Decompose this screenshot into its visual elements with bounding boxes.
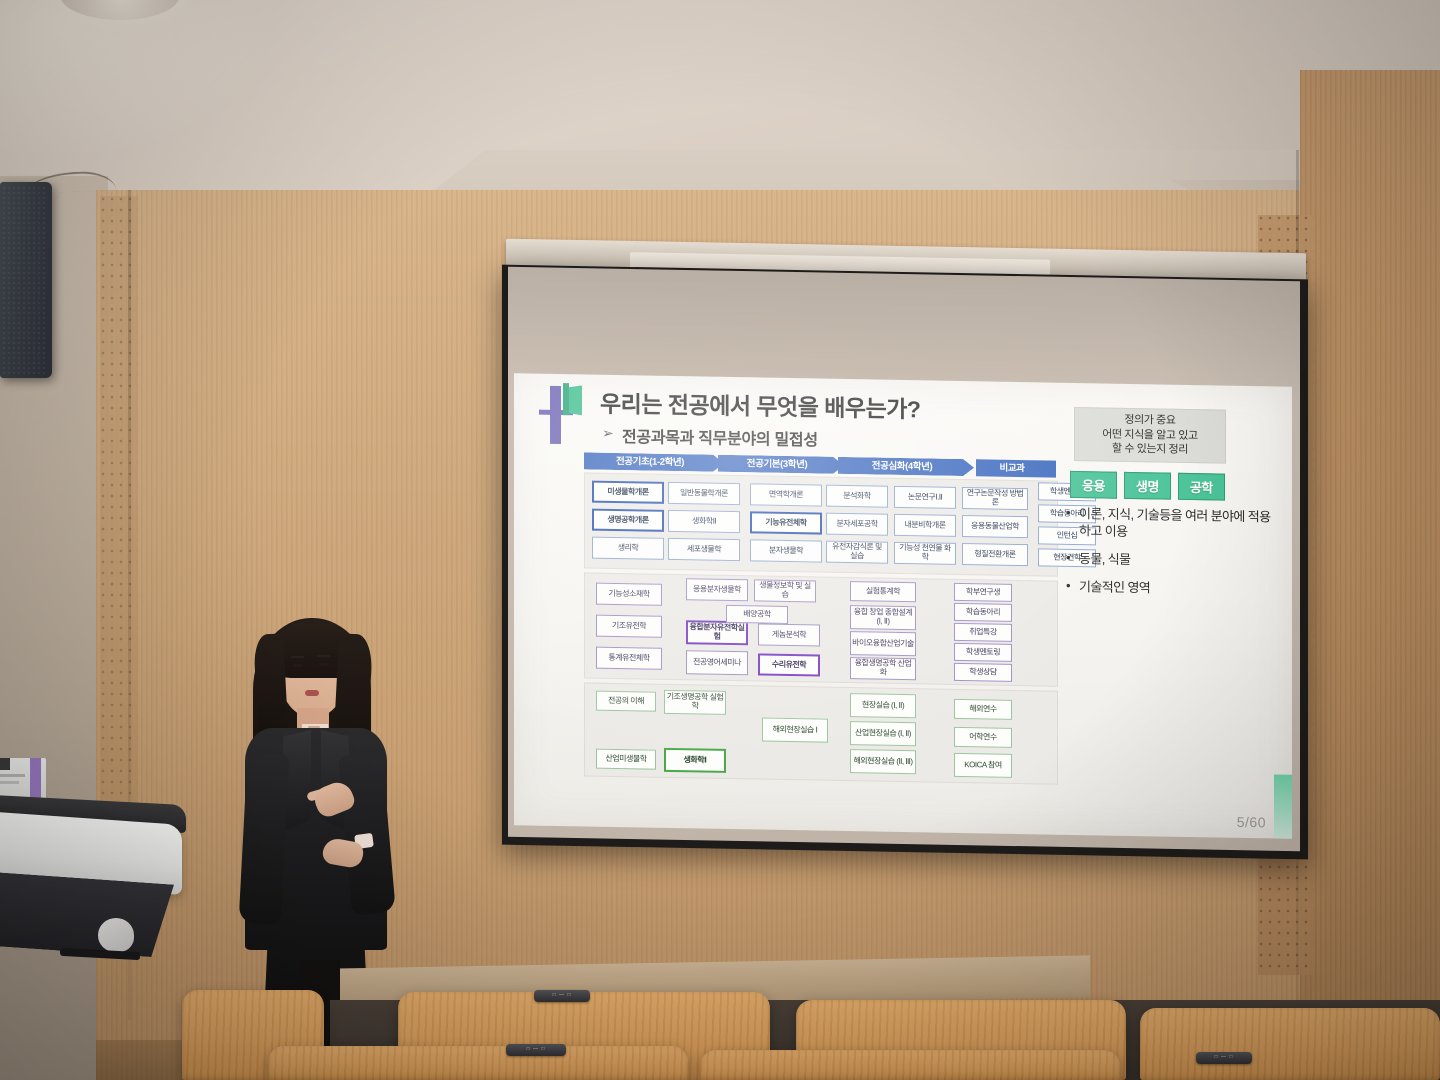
course-box: 생화학Ⅰ bbox=[664, 748, 726, 773]
course-box: 기능성 천연물 화학 bbox=[894, 542, 956, 565]
course-box: 학부연구생 bbox=[954, 583, 1012, 602]
university-logo-icon bbox=[536, 382, 584, 445]
course-box: 기능성소재학 bbox=[596, 583, 662, 606]
lectern-knob bbox=[98, 918, 134, 952]
course-box: 기조유전학 bbox=[596, 615, 662, 638]
course-box: 해외현장실습 Ⅰ bbox=[762, 718, 828, 743]
course-box: 유전자감식론 및 실습 bbox=[826, 541, 888, 564]
course-box: 해외현장실습 (Ⅱ, Ⅲ) bbox=[850, 749, 916, 774]
acoustic-panel-left bbox=[100, 196, 138, 896]
course-box: 바이오융합산업기술 bbox=[850, 631, 916, 656]
list-item: 동물, 식물 bbox=[1066, 550, 1280, 571]
course-box: 배양공학 bbox=[726, 605, 788, 624]
stage-header-2-label: 전공심화(4학년) bbox=[872, 457, 932, 475]
course-box: 취업특강 bbox=[954, 623, 1012, 642]
chair-tablet-label: □ — □ bbox=[553, 992, 572, 998]
course-box: 융합생명공학 산업화 bbox=[850, 657, 916, 680]
course-box: 산업미생물학 bbox=[596, 749, 656, 770]
course-box: 통계유전체학 bbox=[596, 647, 662, 670]
stage-header-3-label: 비교과 bbox=[999, 460, 1024, 477]
speaker-grill bbox=[2, 186, 46, 374]
course-box: 생화학Ⅱ bbox=[668, 510, 740, 533]
course-box: 수리유전학 bbox=[758, 653, 820, 676]
course-box: 학습동아리 bbox=[954, 603, 1012, 622]
side-bullet-list: 이론, 지식, 기술등을 여러 분야에 적용하고 이용 동물, 식물 기술적인 … bbox=[1066, 505, 1280, 610]
chair-tablet-arm[interactable]: □ — □ bbox=[534, 990, 590, 1002]
course-box: 일반동물학개론 bbox=[668, 482, 740, 505]
course-box: 생명공학개론 bbox=[592, 509, 664, 532]
list-item[interactable] bbox=[1140, 1008, 1440, 1080]
definition-note: 정의가 중요 어떤 지식을 알고 있고 할 수 있는지 정리 bbox=[1074, 407, 1226, 464]
course-box: 내분비학개론 bbox=[894, 514, 956, 537]
course-box: 생물정보학 및 실습 bbox=[754, 579, 816, 602]
wall-speaker bbox=[0, 182, 52, 378]
course-box: 면역학개론 bbox=[750, 483, 822, 506]
course-box: 실험통계학 bbox=[850, 581, 916, 602]
course-box: 세포생물학 bbox=[668, 538, 740, 561]
domain-tag-row: 응용 생명 공학 bbox=[1070, 471, 1225, 501]
stage-header-0: 전공기초(1-2학년) bbox=[584, 452, 724, 471]
course-box: 학생상담 bbox=[954, 663, 1012, 682]
slide-accent-chip bbox=[1274, 774, 1292, 838]
slide-page-number: 5/60 bbox=[1237, 814, 1266, 831]
course-box: 융합 창업 종합설계 (Ⅰ, Ⅱ) bbox=[850, 605, 916, 630]
course-box: 응용동물산업학 bbox=[962, 515, 1028, 538]
course-box: 융합분자유전학실험 bbox=[686, 620, 748, 645]
course-box: 기능유전체학 bbox=[750, 511, 822, 534]
course-box: 학생멘토링 bbox=[954, 643, 1012, 662]
domain-tag-0: 응용 bbox=[1070, 471, 1117, 499]
presentation-slide: 우리는 전공에서 무엇을 배우는가? ➢ 전공과목과 직무분야의 밀접성 전공기… bbox=[514, 373, 1292, 839]
course-box: 연구논문작성 방법론 bbox=[962, 487, 1028, 510]
course-box: 응용분자생물학 bbox=[686, 578, 748, 601]
course-box: 분석화학 bbox=[826, 485, 888, 508]
chair-tablet-label: □ — □ bbox=[1215, 1054, 1234, 1060]
list-item[interactable] bbox=[700, 1050, 1120, 1080]
stage-header-1: 전공기본(3학년) bbox=[718, 455, 844, 474]
course-box: 해외연수 bbox=[954, 699, 1012, 720]
lectern bbox=[0, 800, 200, 990]
lecture-hall-photo: 우리는 전공에서 무엇을 배우는가? ➢ 전공과목과 직무분야의 밀접성 전공기… bbox=[0, 0, 1440, 1080]
course-box: 분자세포공학 bbox=[826, 513, 888, 536]
domain-tag-1: 생명 bbox=[1124, 472, 1171, 500]
list-item: 이론, 지식, 기술등을 여러 분야에 적용하고 이용 bbox=[1066, 505, 1280, 543]
wall-wood-right bbox=[1300, 70, 1440, 1080]
course-box: 논문연구Ⅰ.Ⅱ bbox=[894, 486, 956, 509]
stage-header-1-label: 전공기본(3학년) bbox=[747, 455, 807, 473]
chair-tablet-label: □ — □ bbox=[527, 1046, 546, 1052]
course-box: 산업현장실습 (Ⅰ, Ⅱ) bbox=[850, 721, 916, 746]
stage-header-2: 전공심화(4학년) bbox=[838, 457, 974, 476]
course-box: 전공영어세미나 bbox=[686, 650, 748, 675]
course-box: 생리학 bbox=[592, 537, 664, 560]
course-box: 전공의 이해 bbox=[596, 691, 656, 712]
stage-header-3: 비교과 bbox=[976, 459, 1056, 477]
bullet-marker-icon: ➢ bbox=[602, 425, 614, 442]
slide-title: 우리는 전공에서 무엇을 배우는가? bbox=[600, 385, 920, 425]
course-box: 형질전환개론 bbox=[962, 543, 1028, 566]
stage-header-0-label: 전공기초(1-2학년) bbox=[616, 453, 684, 471]
slide-subtitle: 전공과목과 직무분야의 밀접성 bbox=[622, 423, 818, 450]
course-box: 어학연수 bbox=[954, 727, 1012, 748]
course-box: KOICA 참여 bbox=[954, 753, 1012, 778]
course-box: 분자생물학 bbox=[750, 539, 822, 562]
course-box: 게놈분석학 bbox=[758, 623, 820, 646]
list-item[interactable] bbox=[268, 1046, 688, 1080]
course-box: 기조생명공학 실험학 bbox=[664, 690, 726, 715]
course-box: 현장실습 (Ⅰ, Ⅱ) bbox=[850, 693, 916, 718]
chair-tablet-arm[interactable]: □ — □ bbox=[506, 1044, 566, 1056]
chair-tablet-arm[interactable]: □ — □ bbox=[1196, 1052, 1252, 1064]
domain-tag-2: 공학 bbox=[1178, 473, 1225, 501]
list-item: 기술적인 영역 bbox=[1066, 578, 1280, 599]
course-box: 미생물학개론 bbox=[592, 481, 664, 504]
